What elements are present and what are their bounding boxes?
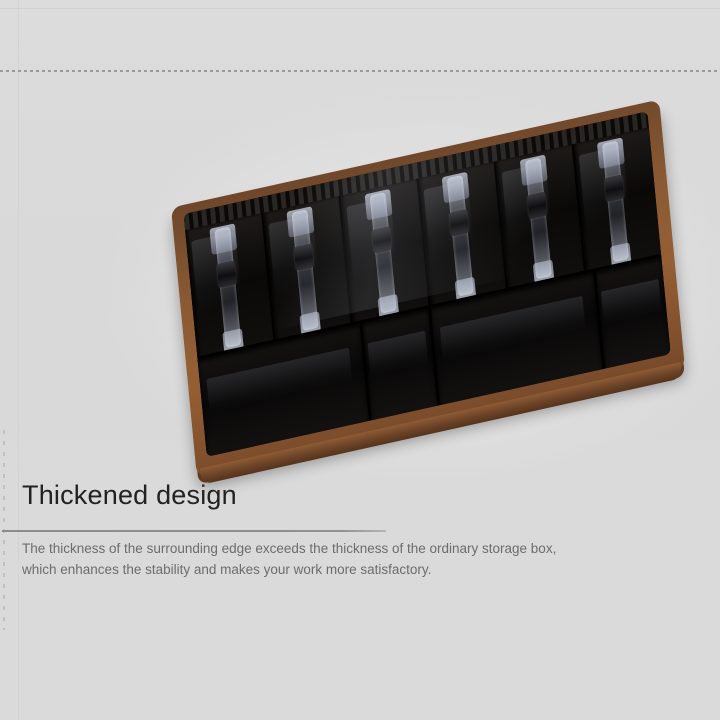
- tray-black-interior: [184, 111, 671, 457]
- feature-title: Thickened design: [22, 480, 237, 511]
- coin-compartment: [363, 308, 440, 420]
- tray-brown-rim: [171, 100, 685, 477]
- coin-highlight: [206, 348, 352, 413]
- dotted-separator: [0, 70, 720, 72]
- product-image: [150, 118, 710, 484]
- description-line-1: The thickness of the surrounding edge ex…: [22, 538, 642, 559]
- coin-highlight: [601, 279, 661, 325]
- clip-hinge: [605, 174, 625, 202]
- coin-highlight: [368, 331, 428, 377]
- clip-hinge: [449, 209, 469, 237]
- coin-compartment: [596, 257, 670, 369]
- clip-hinge: [217, 260, 237, 288]
- description-line-2: which enhances the stability and makes y…: [22, 559, 642, 580]
- cash-drawer-tray: [171, 100, 685, 477]
- feature-description: The thickness of the surrounding edge ex…: [22, 538, 642, 580]
- left-guide-line: [18, 0, 19, 720]
- top-guide-line: [0, 8, 720, 9]
- clip-hinge: [372, 226, 392, 254]
- caption-divider: [2, 530, 386, 532]
- coin-highlight: [439, 296, 585, 361]
- clip-hinge: [294, 243, 314, 271]
- product-detail-page: Thickened design The thickness of the su…: [0, 0, 720, 720]
- clip-hinge: [527, 192, 547, 220]
